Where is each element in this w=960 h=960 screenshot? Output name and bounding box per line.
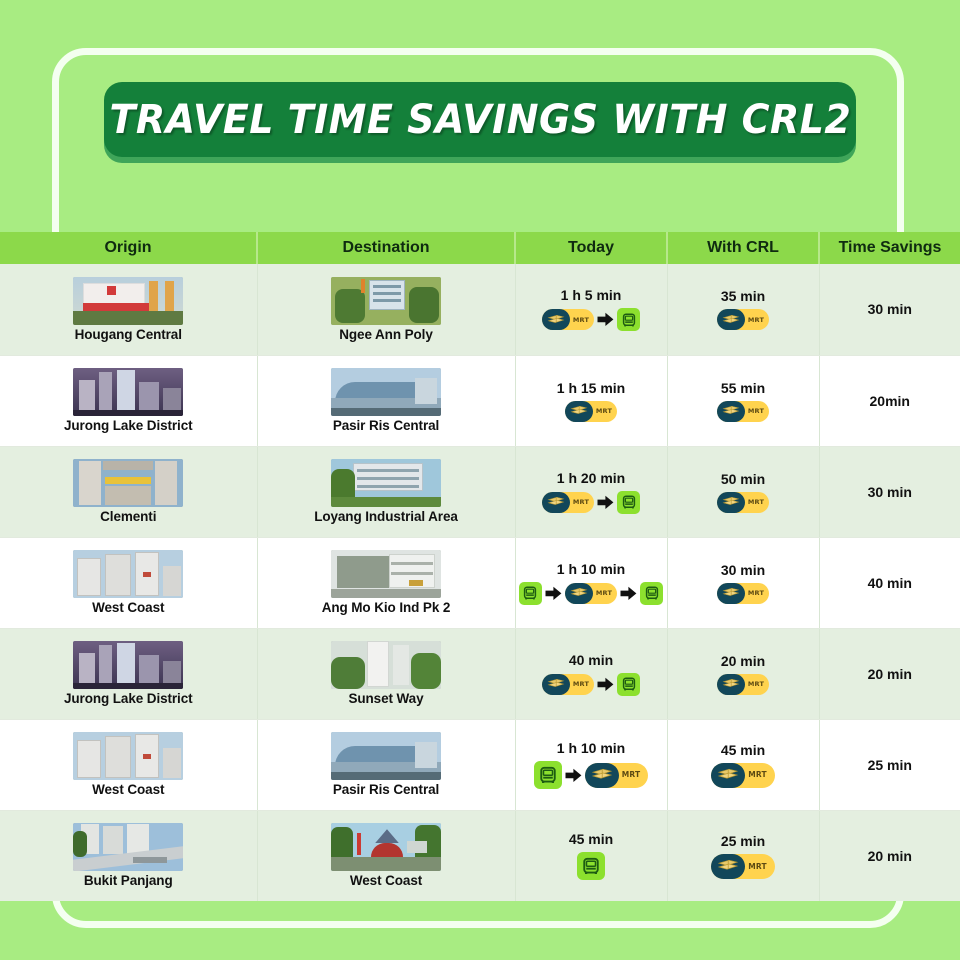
today-mode-chain: MRT	[542, 673, 640, 696]
cell-with-crl: 50 minMRT	[667, 446, 819, 537]
today-mode-chain: MRT	[519, 582, 663, 605]
location-photo	[73, 732, 183, 780]
location-photo	[331, 732, 441, 780]
with-crl-cell: 30 minMRT	[670, 562, 817, 604]
bus-icon	[617, 308, 640, 331]
cell-time-savings: 30 min	[819, 264, 960, 355]
with-crl-value: 50 min	[721, 471, 765, 487]
cell-today: 40 minMRT	[515, 628, 667, 719]
mrt-badge: MRT	[565, 401, 617, 422]
cell-with-crl: 45 minMRT	[667, 719, 819, 810]
cell-origin: Clementi	[0, 446, 257, 537]
place-cell: Sunset Way	[260, 641, 513, 706]
table-row: Jurong Lake DistrictSunset Way40 minMRT2…	[0, 628, 960, 719]
cell-with-crl: 20 minMRT	[667, 628, 819, 719]
with-crl-value: 55 min	[721, 380, 765, 396]
place-label: Hougang Central	[75, 327, 182, 342]
column-header-destination: Destination	[257, 232, 515, 264]
cell-today: 1 h 10 minMRT	[515, 719, 667, 810]
bus-icon	[577, 852, 605, 880]
place-cell: Jurong Lake District	[2, 641, 255, 706]
cell-origin: Hougang Central	[0, 264, 257, 355]
place-label: Sunset Way	[348, 691, 423, 706]
place-cell: West Coast	[260, 823, 513, 888]
place-label: Bukit Panjang	[84, 873, 173, 888]
with-crl-value: 30 min	[721, 562, 765, 578]
today-value: 1 h 10 min	[557, 740, 625, 756]
today-value: 1 h 15 min	[557, 380, 625, 396]
location-photo	[73, 823, 183, 871]
with-crl-cell: 55 minMRT	[670, 380, 817, 422]
cell-origin: Jurong Lake District	[0, 628, 257, 719]
table-row: ClementiLoyang Industrial Area1 h 20 min…	[0, 446, 960, 537]
cell-with-crl: 35 minMRT	[667, 264, 819, 355]
mrt-logo-icon	[542, 309, 570, 330]
today-value: 45 min	[569, 831, 613, 847]
with-crl-value: 20 min	[721, 653, 765, 669]
title-banner: TRAVEL TIME SAVINGS WITH CRL2	[104, 82, 856, 157]
time-savings-value: 40 min	[822, 575, 959, 591]
mrt-logo-icon	[717, 401, 745, 422]
today-cell: 40 minMRT	[518, 652, 665, 696]
mrt-logo-icon	[717, 309, 745, 330]
arrow-right-icon	[597, 312, 614, 327]
mrt-badge: MRT	[717, 492, 769, 513]
travel-time-table: Origin Destination Today With CRL Time S…	[0, 232, 960, 901]
place-label: Pasir Ris Central	[333, 418, 439, 433]
cell-today: 45 min	[515, 810, 667, 901]
place-cell: Clementi	[2, 459, 255, 524]
location-photo	[73, 641, 183, 689]
place-label: Loyang Industrial Area	[314, 509, 458, 524]
column-header-today: Today	[515, 232, 667, 264]
table-header: Origin Destination Today With CRL Time S…	[0, 232, 960, 264]
place-cell: West Coast	[2, 550, 255, 615]
place-cell: Hougang Central	[2, 277, 255, 342]
with-crl-mode-chain: MRT	[711, 854, 775, 879]
today-value: 1 h 10 min	[557, 561, 625, 577]
cell-today: 1 h 10 minMRT	[515, 537, 667, 628]
time-savings-value: 25 min	[822, 757, 959, 773]
cell-with-crl: 55 minMRT	[667, 355, 819, 446]
mrt-label: MRT	[570, 499, 589, 506]
mrt-label: MRT	[745, 590, 764, 597]
place-cell: Jurong Lake District	[2, 368, 255, 433]
time-savings-value: 30 min	[822, 301, 959, 317]
mrt-badge: MRT	[711, 763, 775, 788]
cell-time-savings: 20 min	[819, 628, 960, 719]
arrow-right-icon	[565, 768, 582, 783]
with-crl-cell: 35 minMRT	[670, 288, 817, 330]
place-cell: Bukit Panjang	[2, 823, 255, 888]
cell-destination: Pasir Ris Central	[257, 719, 515, 810]
time-savings-value: 20min	[822, 393, 959, 409]
location-photo	[73, 368, 183, 416]
today-cell: 1 h 15 minMRT	[518, 380, 665, 422]
cell-origin: Bukit Panjang	[0, 810, 257, 901]
mrt-label: MRT	[593, 590, 612, 597]
mrt-logo-icon	[717, 674, 745, 695]
place-cell: West Coast	[2, 732, 255, 797]
location-photo	[331, 550, 441, 598]
mrt-logo-icon	[542, 492, 570, 513]
mrt-logo-icon	[711, 763, 745, 788]
bus-icon	[534, 761, 562, 789]
place-label: West Coast	[92, 782, 164, 797]
with-crl-mode-chain: MRT	[717, 309, 769, 330]
today-cell: 1 h 20 minMRT	[518, 470, 665, 514]
mrt-label: MRT	[745, 771, 767, 779]
mrt-label: MRT	[745, 863, 767, 871]
cell-origin: West Coast	[0, 719, 257, 810]
mrt-logo-icon	[542, 674, 570, 695]
bus-icon	[617, 491, 640, 514]
today-value: 1 h 5 min	[561, 287, 622, 303]
mrt-label: MRT	[593, 408, 612, 415]
mrt-badge: MRT	[717, 401, 769, 422]
place-cell: Ang Mo Kio Ind Pk 2	[260, 550, 513, 615]
mrt-badge: MRT	[542, 492, 594, 513]
mrt-badge: MRT	[542, 674, 594, 695]
mrt-logo-icon	[565, 401, 593, 422]
with-crl-value: 25 min	[721, 833, 765, 849]
cell-origin: West Coast	[0, 537, 257, 628]
today-value: 40 min	[569, 652, 613, 668]
cell-destination: West Coast	[257, 810, 515, 901]
place-label: West Coast	[350, 873, 422, 888]
place-label: West Coast	[92, 600, 164, 615]
cell-time-savings: 20 min	[819, 810, 960, 901]
cell-time-savings: 20min	[819, 355, 960, 446]
mrt-label: MRT	[745, 317, 764, 324]
location-photo	[331, 368, 441, 416]
mrt-label: MRT	[570, 681, 589, 688]
cell-today: 1 h 20 minMRT	[515, 446, 667, 537]
time-savings-value: 30 min	[822, 484, 959, 500]
cell-destination: Sunset Way	[257, 628, 515, 719]
place-label: Pasir Ris Central	[333, 782, 439, 797]
cell-today: 1 h 15 minMRT	[515, 355, 667, 446]
location-photo	[331, 277, 441, 325]
with-crl-cell: 45 minMRT	[670, 742, 817, 788]
column-header-with-crl: With CRL	[667, 232, 819, 264]
with-crl-mode-chain: MRT	[717, 583, 769, 604]
cell-origin: Jurong Lake District	[0, 355, 257, 446]
arrow-right-icon	[545, 586, 562, 601]
cell-destination: Pasir Ris Central	[257, 355, 515, 446]
mrt-badge: MRT	[711, 854, 775, 879]
today-cell: 1 h 5 minMRT	[518, 287, 665, 331]
mrt-label: MRT	[745, 499, 764, 506]
cell-destination: Loyang Industrial Area	[257, 446, 515, 537]
today-cell: 1 h 10 minMRT	[518, 561, 665, 605]
place-label: Clementi	[100, 509, 156, 524]
today-value: 1 h 20 min	[557, 470, 625, 486]
place-label: Ngee Ann Poly	[339, 327, 432, 342]
mrt-badge: MRT	[717, 583, 769, 604]
place-label: Jurong Lake District	[64, 691, 193, 706]
with-crl-value: 45 min	[721, 742, 765, 758]
place-cell: Pasir Ris Central	[260, 368, 513, 433]
mrt-logo-icon	[585, 763, 619, 788]
mrt-label: MRT	[745, 408, 764, 415]
today-mode-chain	[577, 852, 605, 880]
table-row: West CoastAng Mo Kio Ind Pk 21 h 10 minM…	[0, 537, 960, 628]
with-crl-mode-chain: MRT	[711, 763, 775, 788]
time-savings-value: 20 min	[822, 848, 959, 864]
today-cell: 1 h 10 minMRT	[518, 740, 665, 789]
today-mode-chain: MRT	[565, 401, 617, 422]
location-photo	[73, 550, 183, 598]
place-cell: Pasir Ris Central	[260, 732, 513, 797]
cell-time-savings: 25 min	[819, 719, 960, 810]
arrow-right-icon	[620, 586, 637, 601]
cell-with-crl: 30 minMRT	[667, 537, 819, 628]
title-banner-wrap: TRAVEL TIME SAVINGS WITH CRL2	[0, 82, 960, 157]
with-crl-cell: 25 minMRT	[670, 833, 817, 879]
location-photo	[73, 459, 183, 507]
table-row: West CoastPasir Ris Central1 h 10 minMRT…	[0, 719, 960, 810]
with-crl-cell: 50 minMRT	[670, 471, 817, 513]
mrt-logo-icon	[717, 492, 745, 513]
cell-time-savings: 40 min	[819, 537, 960, 628]
with-crl-cell: 20 minMRT	[670, 653, 817, 695]
with-crl-mode-chain: MRT	[717, 674, 769, 695]
cell-with-crl: 25 minMRT	[667, 810, 819, 901]
mrt-label: MRT	[745, 681, 764, 688]
mrt-label: MRT	[570, 317, 589, 324]
table-row: Jurong Lake DistrictPasir Ris Central1 h…	[0, 355, 960, 446]
mrt-logo-icon	[711, 854, 745, 879]
with-crl-mode-chain: MRT	[717, 492, 769, 513]
cell-time-savings: 30 min	[819, 446, 960, 537]
page-title: TRAVEL TIME SAVINGS WITH CRL2	[109, 97, 851, 143]
today-cell: 45 min	[518, 831, 665, 880]
location-photo	[331, 459, 441, 507]
table-header-row: Origin Destination Today With CRL Time S…	[0, 232, 960, 264]
bus-icon	[640, 582, 663, 605]
location-photo	[73, 277, 183, 325]
mrt-logo-icon	[565, 583, 593, 604]
location-photo	[331, 823, 441, 871]
today-mode-chain: MRT	[542, 308, 640, 331]
arrow-right-icon	[597, 677, 614, 692]
today-mode-chain: MRT	[542, 491, 640, 514]
location-photo	[331, 641, 441, 689]
place-cell: Loyang Industrial Area	[260, 459, 513, 524]
bus-icon	[519, 582, 542, 605]
cell-destination: Ang Mo Kio Ind Pk 2	[257, 537, 515, 628]
table-row: Bukit PanjangWest Coast45 min25 minMRT20…	[0, 810, 960, 901]
column-header-origin: Origin	[0, 232, 257, 264]
with-crl-mode-chain: MRT	[717, 401, 769, 422]
cell-today: 1 h 5 minMRT	[515, 264, 667, 355]
table-body: Hougang CentralNgee Ann Poly1 h 5 minMRT…	[0, 264, 960, 901]
mrt-badge: MRT	[717, 309, 769, 330]
time-savings-value: 20 min	[822, 666, 959, 682]
mrt-badge: MRT	[717, 674, 769, 695]
mrt-badge: MRT	[585, 763, 649, 788]
arrow-right-icon	[597, 495, 614, 510]
mrt-badge: MRT	[565, 583, 617, 604]
mrt-label: MRT	[619, 771, 641, 779]
column-header-time-savings: Time Savings	[819, 232, 960, 264]
mrt-badge: MRT	[542, 309, 594, 330]
place-cell: Ngee Ann Poly	[260, 277, 513, 342]
mrt-logo-icon	[717, 583, 745, 604]
cell-destination: Ngee Ann Poly	[257, 264, 515, 355]
table-row: Hougang CentralNgee Ann Poly1 h 5 minMRT…	[0, 264, 960, 355]
bus-icon	[617, 673, 640, 696]
place-label: Jurong Lake District	[64, 418, 193, 433]
place-label: Ang Mo Kio Ind Pk 2	[322, 600, 451, 615]
with-crl-value: 35 min	[721, 288, 765, 304]
today-mode-chain: MRT	[534, 761, 649, 789]
